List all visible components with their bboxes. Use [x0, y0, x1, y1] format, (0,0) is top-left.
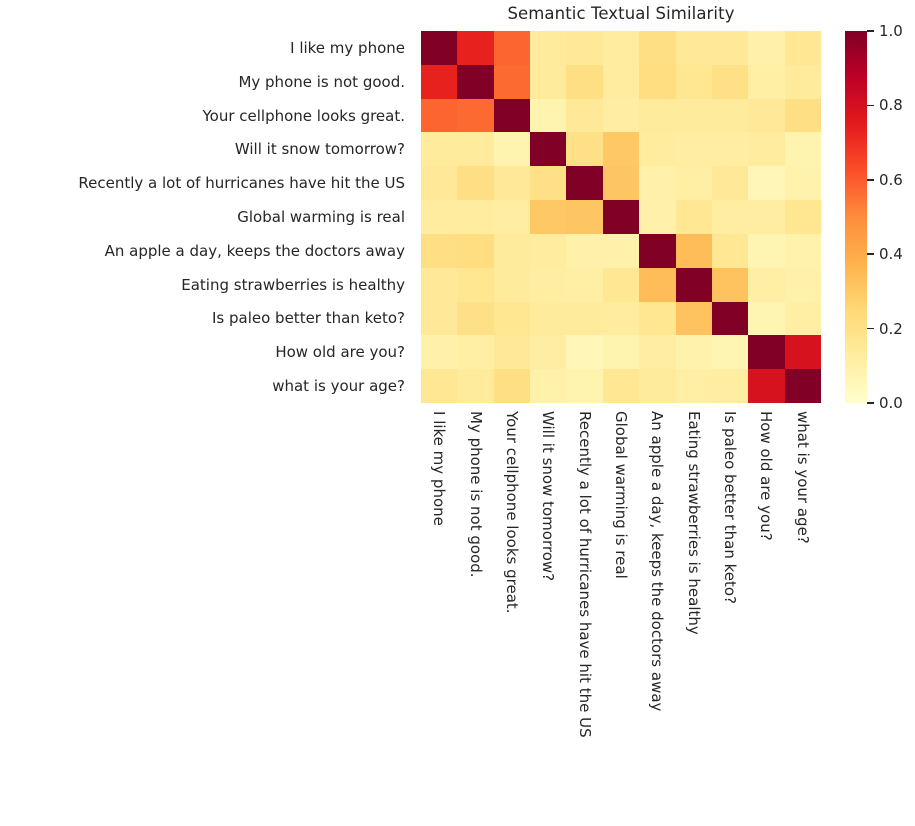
colorbar-tick-labels: 0.00.20.40.60.81.0: [845, 31, 915, 403]
heatmap-cell[interactable]: [712, 65, 748, 99]
heatmap-cell[interactable]: [712, 132, 748, 166]
heatmap-cell[interactable]: [712, 99, 748, 133]
heatmap-cell[interactable]: [785, 335, 821, 369]
heatmap-cell[interactable]: [603, 234, 639, 268]
heatmap-cell[interactable]: [457, 166, 493, 200]
heatmap-cell[interactable]: [603, 132, 639, 166]
heatmap-cell[interactable]: [421, 200, 457, 234]
heatmap-cell[interactable]: [712, 268, 748, 302]
colorbar-tick: 0.8: [867, 96, 903, 114]
heatmap-cell[interactable]: [603, 302, 639, 336]
heatmap-cell[interactable]: [785, 234, 821, 268]
heatmap-cell[interactable]: [566, 268, 602, 302]
heatmap-cell[interactable]: [748, 166, 784, 200]
heatmap-cell[interactable]: [494, 31, 530, 65]
heatmap-cell[interactable]: [676, 335, 712, 369]
x-tick-label: Is paleo better than keto?: [712, 403, 748, 823]
heatmap-cell[interactable]: [494, 302, 530, 336]
heatmap-cell[interactable]: [639, 166, 675, 200]
heatmap-cell[interactable]: [530, 302, 566, 336]
colorbar-tick-text: 0.2: [879, 320, 903, 338]
heatmap-cell[interactable]: [494, 65, 530, 99]
heatmap-cell[interactable]: [785, 31, 821, 65]
heatmap-cell[interactable]: [494, 99, 530, 133]
heatmap-cell[interactable]: [530, 132, 566, 166]
heatmap-cell[interactable]: [421, 302, 457, 336]
x-tick-label: Will it snow tomorrow?: [530, 403, 566, 823]
y-tick-label: Eating strawberries is healthy: [0, 268, 413, 302]
heatmap-cell[interactable]: [457, 302, 493, 336]
colorbar-tick-text: 0.8: [879, 96, 903, 114]
heatmap-cell[interactable]: [530, 335, 566, 369]
heatmap-cell[interactable]: [639, 302, 675, 336]
heatmap-cell[interactable]: [639, 234, 675, 268]
colorbar-tick: 0.0: [867, 394, 903, 412]
heatmap-cell[interactable]: [603, 268, 639, 302]
heatmap-cell[interactable]: [530, 369, 566, 403]
heatmap-cell[interactable]: [603, 369, 639, 403]
heatmap-cell[interactable]: [785, 99, 821, 133]
heatmap-cell[interactable]: [494, 132, 530, 166]
heatmap-cell[interactable]: [494, 335, 530, 369]
heatmap-cell[interactable]: [421, 65, 457, 99]
heatmap-cell[interactable]: [748, 99, 784, 133]
heatmap-cell[interactable]: [785, 166, 821, 200]
heatmap-cell[interactable]: [639, 268, 675, 302]
heatmap-cell[interactable]: [639, 369, 675, 403]
heatmap-cell[interactable]: [421, 31, 457, 65]
heatmap-cell[interactable]: [566, 132, 602, 166]
heatmap-cell[interactable]: [530, 166, 566, 200]
heatmap-cell[interactable]: [421, 166, 457, 200]
heatmap-cell[interactable]: [748, 200, 784, 234]
heatmap-cell[interactable]: [676, 31, 712, 65]
heatmap-cell[interactable]: [785, 65, 821, 99]
heatmap-cell[interactable]: [712, 302, 748, 336]
heatmap-cell[interactable]: [785, 132, 821, 166]
y-tick-label: Recently a lot of hurricanes have hit th…: [0, 166, 413, 200]
heatmap-cell[interactable]: [530, 99, 566, 133]
heatmap-cell[interactable]: [639, 99, 675, 133]
colorbar-tick: 0.4: [867, 245, 903, 263]
colorbar-tick-mark: [867, 105, 874, 107]
y-tick-label: what is your age?: [0, 369, 413, 403]
heatmap-cell[interactable]: [421, 268, 457, 302]
heatmap-cell[interactable]: [566, 302, 602, 336]
y-tick-label: I like my phone: [0, 31, 413, 65]
colorbar-tick: 0.2: [867, 320, 903, 338]
heatmap-cell[interactable]: [457, 65, 493, 99]
heatmap-cell[interactable]: [457, 369, 493, 403]
heatmap-cell[interactable]: [421, 99, 457, 133]
heatmap-cell[interactable]: [457, 234, 493, 268]
colorbar-tick-mark: [867, 30, 874, 32]
heatmap-cell[interactable]: [457, 335, 493, 369]
heatmap-cell[interactable]: [785, 268, 821, 302]
colorbar-tick-mark: [867, 328, 874, 330]
heatmap-cell[interactable]: [566, 99, 602, 133]
heatmap-cell[interactable]: [457, 268, 493, 302]
heatmap-cell[interactable]: [494, 200, 530, 234]
heatmap-cell[interactable]: [566, 335, 602, 369]
heatmap-cell[interactable]: [748, 335, 784, 369]
y-tick-label: Global warming is real: [0, 200, 413, 234]
y-tick-label: Is paleo better than keto?: [0, 302, 413, 336]
x-tick-label: Your cellphone looks great.: [494, 403, 530, 823]
heatmap-cell[interactable]: [457, 200, 493, 234]
heatmap-cell[interactable]: [603, 200, 639, 234]
y-tick-label: An apple a day, keeps the doctors away: [0, 234, 413, 268]
heatmap-cell[interactable]: [494, 369, 530, 403]
heatmap-cell[interactable]: [566, 200, 602, 234]
colorbar-tick: 0.6: [867, 171, 903, 189]
heatmap-cell[interactable]: [712, 369, 748, 403]
heatmap-cell[interactable]: [712, 166, 748, 200]
heatmap-cell[interactable]: [785, 302, 821, 336]
colorbar-tick-text: 1.0: [879, 22, 903, 40]
heatmap-cell[interactable]: [494, 268, 530, 302]
colorbar-tick-mark: [867, 253, 874, 255]
heatmap-cell[interactable]: [530, 200, 566, 234]
x-tick-label: what is your age?: [785, 403, 821, 823]
heatmap-cell[interactable]: [712, 31, 748, 65]
heatmap-cell[interactable]: [676, 132, 712, 166]
heatmap-cell[interactable]: [566, 166, 602, 200]
heatmap-cell[interactable]: [494, 234, 530, 268]
x-tick-label: An apple a day, keeps the doctors away: [639, 403, 675, 823]
heatmap-cell[interactable]: [603, 166, 639, 200]
heatmap-cell[interactable]: [639, 200, 675, 234]
heatmap-cell[interactable]: [421, 234, 457, 268]
heatmap-cell[interactable]: [421, 335, 457, 369]
chart-title: Semantic Textual Similarity: [421, 4, 821, 23]
x-tick-label: I like my phone: [421, 403, 457, 823]
y-tick-label: My phone is not good.: [0, 65, 413, 99]
heatmap-cell[interactable]: [603, 31, 639, 65]
heatmap-cell[interactable]: [676, 65, 712, 99]
heatmap-cell[interactable]: [785, 369, 821, 403]
y-axis-tick-labels: I like my phoneMy phone is not good.Your…: [0, 31, 413, 403]
colorbar-tick-text: 0.6: [879, 171, 903, 189]
heatmap-cell[interactable]: [712, 234, 748, 268]
heatmap-cell[interactable]: [676, 200, 712, 234]
heatmap-cell[interactable]: [748, 268, 784, 302]
colorbar-tick-text: 0.4: [879, 245, 903, 263]
heatmap-cell[interactable]: [566, 369, 602, 403]
colorbar-tick: 1.0: [867, 22, 903, 40]
heatmap-cell[interactable]: [748, 302, 784, 336]
heatmap-cell[interactable]: [676, 234, 712, 268]
heatmap-cell[interactable]: [457, 99, 493, 133]
heatmap-cell[interactable]: [530, 234, 566, 268]
heatmap-cell[interactable]: [676, 166, 712, 200]
heatmap-cell[interactable]: [566, 65, 602, 99]
heatmap-cell[interactable]: [530, 65, 566, 99]
heatmap-cell[interactable]: [530, 268, 566, 302]
heatmap-cell[interactable]: [748, 234, 784, 268]
heatmap-cell[interactable]: [676, 369, 712, 403]
colorbar-tick-mark: [867, 179, 874, 181]
heatmap-cell[interactable]: [748, 31, 784, 65]
colorbar-tick-text: 0.0: [879, 394, 903, 412]
heatmap-cell[interactable]: [639, 65, 675, 99]
heatmap-cell[interactable]: [457, 31, 493, 65]
heatmap-cell[interactable]: [748, 132, 784, 166]
heatmap-cell[interactable]: [748, 65, 784, 99]
heatmap-cell[interactable]: [603, 99, 639, 133]
y-tick-label: Your cellphone looks great.: [0, 99, 413, 133]
heatmap-cell[interactable]: [603, 65, 639, 99]
heatmap-cell[interactable]: [639, 335, 675, 369]
heatmap-cell[interactable]: [676, 268, 712, 302]
heatmap-cell[interactable]: [457, 132, 493, 166]
figure-canvas: Semantic Textual Similarity I like my ph…: [0, 0, 915, 826]
heatmap-cell[interactable]: [676, 302, 712, 336]
heatmap-cell[interactable]: [421, 132, 457, 166]
heatmap-cell[interactable]: [676, 99, 712, 133]
heatmap-cell[interactable]: [712, 335, 748, 369]
colorbar-tick-mark: [867, 402, 874, 404]
x-tick-label: How old are you?: [748, 403, 784, 823]
heatmap-cell[interactable]: [639, 31, 675, 65]
x-axis-tick-labels: I like my phoneMy phone is not good.Your…: [421, 403, 821, 823]
heatmap-cell[interactable]: [421, 369, 457, 403]
heatmap-cell[interactable]: [748, 369, 784, 403]
x-tick-label: Recently a lot of hurricanes have hit th…: [566, 403, 602, 823]
heatmap-cell[interactable]: [566, 234, 602, 268]
x-tick-label: Global warming is real: [603, 403, 639, 823]
x-tick-label: Eating strawberries is healthy: [676, 403, 712, 823]
y-tick-label: How old are you?: [0, 335, 413, 369]
heatmap-cell[interactable]: [530, 31, 566, 65]
heatmap-cell[interactable]: [639, 132, 675, 166]
y-tick-label: Will it snow tomorrow?: [0, 132, 413, 166]
heatmap-cell[interactable]: [785, 200, 821, 234]
heatmap-cell[interactable]: [603, 335, 639, 369]
heatmap-cell[interactable]: [494, 166, 530, 200]
heatmap-grid[interactable]: [421, 31, 821, 403]
heatmap-cell[interactable]: [712, 200, 748, 234]
heatmap-cell[interactable]: [566, 31, 602, 65]
x-tick-label: My phone is not good.: [457, 403, 493, 823]
